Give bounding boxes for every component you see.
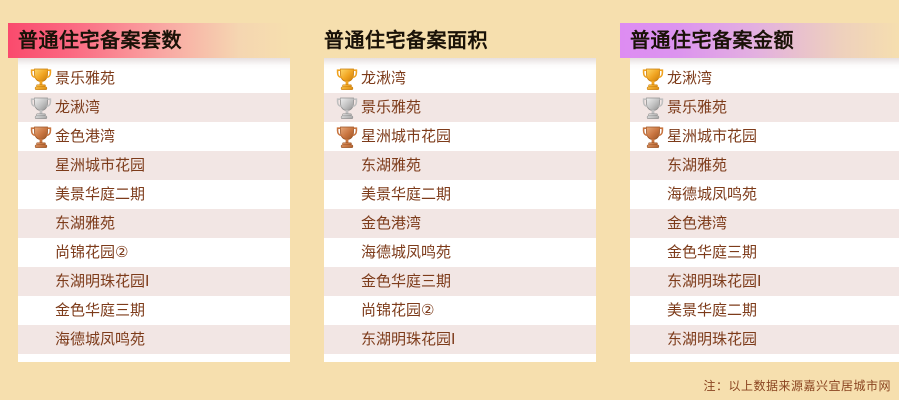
panel-amount: 普通住宅备案金额龙湫湾景乐雅苑星洲城市花园东湖雅苑海德城凤鸣苑金色港湾金色华庭三… [620, 23, 899, 362]
rank-spacer [642, 183, 664, 207]
rank-spacer [642, 154, 664, 178]
list-item-label: 星洲城市花园 [667, 122, 757, 151]
rank-spacer [642, 299, 664, 323]
list-item-label: 金色港湾 [667, 209, 727, 238]
panel-area: 普通住宅备案面积龙湫湾景乐雅苑星洲城市花园东湖雅苑美景华庭二期金色港湾海德城凤鸣… [314, 23, 596, 362]
list-item[interactable]: 金色港湾 [324, 209, 596, 238]
list-item-label: 景乐雅苑 [361, 93, 421, 122]
panel-units-title: 普通住宅备案套数 [8, 23, 290, 58]
list-item[interactable]: 金色港湾 [630, 209, 899, 238]
rank-spacer [336, 270, 358, 294]
rank-spacer [642, 328, 664, 352]
list-item-label: 龙湫湾 [55, 93, 100, 122]
list-item[interactable]: 东湖雅苑 [630, 151, 899, 180]
rank-spacer [30, 183, 52, 207]
list-item-label: 美景华庭二期 [55, 180, 145, 209]
list-item[interactable]: 金色华庭三期 [324, 267, 596, 296]
list-item[interactable]: 尚锦花园② [18, 238, 290, 267]
list-item[interactable]: 龙湫湾 [18, 93, 290, 122]
list-item-label: 金色华庭三期 [361, 267, 451, 296]
list-item-label: 东湖明珠花园Ⅰ [361, 325, 455, 354]
gold-trophy-icon [336, 67, 358, 91]
list-item-label: 海德城凤鸣苑 [55, 325, 145, 354]
ranking-board: 普通住宅备案套数景乐雅苑龙湫湾金色港湾星洲城市花园美景华庭二期东湖雅苑尚锦花园②… [0, 0, 899, 400]
list-item[interactable]: 东湖明珠花园 [630, 325, 899, 354]
list-item-label: 尚锦花园② [361, 296, 434, 325]
list-item-label: 东湖雅苑 [361, 151, 421, 180]
panel-area-title: 普通住宅备案面积 [314, 23, 596, 58]
list-item[interactable]: 星洲城市花园 [324, 122, 596, 151]
footnote: 注：以上数据来源嘉兴宜居城市网 [703, 377, 891, 394]
list-item[interactable]: 海德城凤鸣苑 [18, 325, 290, 354]
rank-spacer [336, 154, 358, 178]
silver-trophy-icon [336, 96, 358, 120]
list-item-label: 东湖明珠花园 [667, 325, 757, 354]
list-item-label: 东湖雅苑 [667, 151, 727, 180]
list-item-label: 海德城凤鸣苑 [361, 238, 451, 267]
list-item-label: 星洲城市花园 [55, 151, 145, 180]
list-item-label: 金色港湾 [55, 122, 115, 151]
gold-trophy-icon [30, 67, 52, 91]
panel-amount-card: 龙湫湾景乐雅苑星洲城市花园东湖雅苑海德城凤鸣苑金色港湾金色华庭三期东湖明珠花园Ⅰ… [630, 58, 899, 362]
list-item-label: 美景华庭二期 [361, 180, 451, 209]
panel-area-list: 龙湫湾景乐雅苑星洲城市花园东湖雅苑美景华庭二期金色港湾海德城凤鸣苑金色华庭三期尚… [324, 64, 596, 354]
list-item[interactable]: 东湖明珠花园Ⅰ [18, 267, 290, 296]
list-item-label: 金色港湾 [361, 209, 421, 238]
list-item[interactable]: 金色港湾 [18, 122, 290, 151]
list-item[interactable]: 龙湫湾 [324, 64, 596, 93]
silver-trophy-icon [642, 96, 664, 120]
rank-spacer [30, 328, 52, 352]
list-item-label: 龙湫湾 [361, 64, 406, 93]
rank-spacer [30, 299, 52, 323]
rank-spacer [336, 183, 358, 207]
panel-area-card: 龙湫湾景乐雅苑星洲城市花园东湖雅苑美景华庭二期金色港湾海德城凤鸣苑金色华庭三期尚… [324, 58, 596, 362]
list-item[interactable]: 美景华庭二期 [18, 180, 290, 209]
list-item-label: 金色华庭三期 [55, 296, 145, 325]
rank-spacer [30, 241, 52, 265]
list-item[interactable]: 东湖明珠花园Ⅰ [630, 267, 899, 296]
rank-spacer [336, 328, 358, 352]
list-item-label: 美景华庭二期 [667, 296, 757, 325]
list-item-label: 金色华庭三期 [667, 238, 757, 267]
rank-spacer [30, 154, 52, 178]
bronze-trophy-icon [642, 125, 664, 149]
rank-spacer [642, 270, 664, 294]
rank-spacer [336, 212, 358, 236]
list-item[interactable]: 东湖明珠花园Ⅰ [324, 325, 596, 354]
list-item[interactable]: 金色华庭三期 [18, 296, 290, 325]
rank-spacer [336, 299, 358, 323]
list-item[interactable]: 金色华庭三期 [630, 238, 899, 267]
list-item[interactable]: 星洲城市花园 [18, 151, 290, 180]
rank-spacer [642, 212, 664, 236]
list-item-label: 东湖明珠花园Ⅰ [667, 267, 761, 296]
list-item-label: 景乐雅苑 [55, 64, 115, 93]
list-item[interactable]: 海德城凤鸣苑 [630, 180, 899, 209]
rank-spacer [30, 212, 52, 236]
list-item-label: 景乐雅苑 [667, 93, 727, 122]
panel-amount-title: 普通住宅备案金额 [620, 23, 899, 58]
list-item[interactable]: 景乐雅苑 [18, 64, 290, 93]
list-item-label: 星洲城市花园 [361, 122, 451, 151]
list-item[interactable]: 景乐雅苑 [324, 93, 596, 122]
bronze-trophy-icon [336, 125, 358, 149]
list-item[interactable]: 美景华庭二期 [324, 180, 596, 209]
rank-spacer [336, 241, 358, 265]
list-item[interactable]: 东湖雅苑 [18, 209, 290, 238]
gold-trophy-icon [642, 67, 664, 91]
list-item[interactable]: 景乐雅苑 [630, 93, 899, 122]
panel-units-card: 景乐雅苑龙湫湾金色港湾星洲城市花园美景华庭二期东湖雅苑尚锦花园②东湖明珠花园Ⅰ金… [18, 58, 290, 362]
list-item-label: 龙湫湾 [667, 64, 712, 93]
list-item[interactable]: 星洲城市花园 [630, 122, 899, 151]
panel-amount-list: 龙湫湾景乐雅苑星洲城市花园东湖雅苑海德城凤鸣苑金色港湾金色华庭三期东湖明珠花园Ⅰ… [630, 64, 899, 354]
list-item[interactable]: 海德城凤鸣苑 [324, 238, 596, 267]
list-item-label: 海德城凤鸣苑 [667, 180, 757, 209]
list-item-label: 东湖明珠花园Ⅰ [55, 267, 149, 296]
rank-spacer [30, 270, 52, 294]
list-item[interactable]: 东湖雅苑 [324, 151, 596, 180]
list-item[interactable]: 美景华庭二期 [630, 296, 899, 325]
rank-spacer [642, 241, 664, 265]
silver-trophy-icon [30, 96, 52, 120]
list-item[interactable]: 尚锦花园② [324, 296, 596, 325]
panel-columns: 普通住宅备案套数景乐雅苑龙湫湾金色港湾星洲城市花园美景华庭二期东湖雅苑尚锦花园②… [0, 0, 899, 362]
list-item-label: 尚锦花园② [55, 238, 128, 267]
panel-units-list: 景乐雅苑龙湫湾金色港湾星洲城市花园美景华庭二期东湖雅苑尚锦花园②东湖明珠花园Ⅰ金… [18, 64, 290, 354]
list-item[interactable]: 龙湫湾 [630, 64, 899, 93]
list-item-label: 东湖雅苑 [55, 209, 115, 238]
panel-units: 普通住宅备案套数景乐雅苑龙湫湾金色港湾星洲城市花园美景华庭二期东湖雅苑尚锦花园②… [8, 23, 290, 362]
bronze-trophy-icon [30, 125, 52, 149]
